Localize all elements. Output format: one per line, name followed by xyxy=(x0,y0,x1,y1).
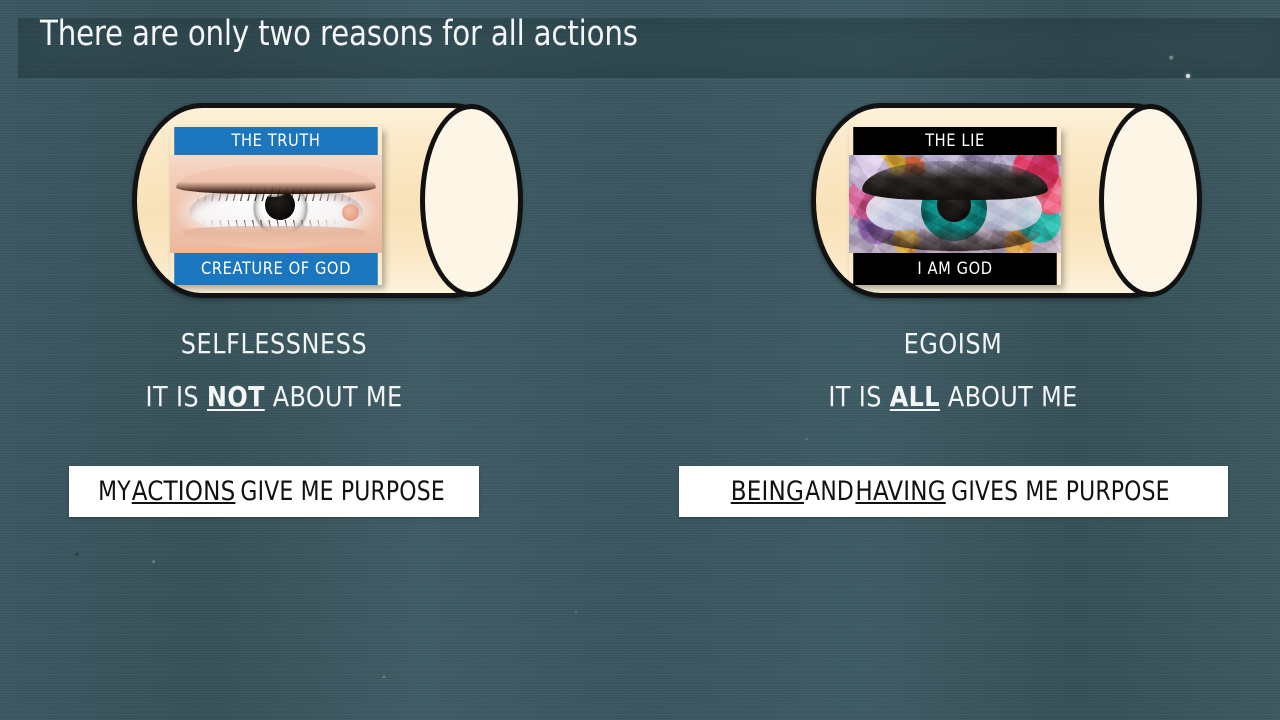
purpose-box-being-having: BEING AND HAVING GIVES ME PURPOSE xyxy=(679,466,1228,517)
caption-block-truth: SELFLESSNESS IT IS NOT ABOUT ME xyxy=(34,326,514,415)
slide-canvas: There are only two reasons for all actio… xyxy=(0,0,1280,720)
caption-title-selflessness: SELFLESSNESS xyxy=(46,326,502,362)
poster-truth: THE TRUTH CREATURE OF GOD xyxy=(170,127,382,285)
poster-header-label: THE TRUTH xyxy=(174,127,378,155)
purpose-mid: GIVE ME PURPOSE xyxy=(241,476,445,507)
background-speck xyxy=(1186,74,1190,78)
cylinder-end-cap xyxy=(1099,104,1202,297)
purpose-text-truth: MY ACTIONS GIVE ME PURPOSE xyxy=(97,476,450,507)
purpose-underline-2: HAVING xyxy=(856,476,946,507)
cylinder-end-cap xyxy=(420,104,523,297)
eye-image-realistic xyxy=(170,155,382,253)
caption-sub-pre: IT IS xyxy=(828,380,889,413)
caption-title-egoism: EGOISM xyxy=(725,326,1181,362)
purpose-box-actions: MY ACTIONS GIVE ME PURPOSE xyxy=(69,466,479,517)
poster-footer-label: I AM GOD xyxy=(853,253,1057,285)
caption-block-lie: EGOISM IT IS ALL ABOUT ME xyxy=(713,326,1193,415)
caption-sub-lie: IT IS ALL ABOUT ME xyxy=(725,379,1181,415)
eye-image-mosaic xyxy=(849,155,1061,253)
caption-sub-emph: NOT xyxy=(207,380,265,413)
page-title: There are only two reasons for all actio… xyxy=(40,14,638,54)
purpose-mid: AND xyxy=(806,476,855,507)
poster-header-label: THE LIE xyxy=(853,127,1057,155)
eye-lower-lid xyxy=(183,226,365,248)
purpose-post: GIVES ME PURPOSE xyxy=(952,476,1171,507)
caption-sub-post: ABOUT ME xyxy=(265,380,403,413)
mosaic-facet-overlay xyxy=(849,155,1061,253)
caption-sub-post: ABOUT ME xyxy=(940,380,1078,413)
purpose-text-lie: BEING AND HAVING GIVES ME PURPOSE xyxy=(731,476,1176,507)
cylinder-truth: THE TRUTH CREATURE OF GOD xyxy=(132,103,522,298)
caption-sub-emph: ALL xyxy=(890,380,940,413)
eye-upper-lashes xyxy=(174,176,375,201)
purpose-pre: MY xyxy=(98,476,131,507)
purpose-underline-1: ACTIONS xyxy=(132,476,236,507)
cylinder-lie: THE LIE I AM GOD xyxy=(811,103,1201,298)
caption-sub-truth: IT IS NOT ABOUT ME xyxy=(46,379,502,415)
caption-sub-pre: IT IS xyxy=(146,380,207,413)
eye-caruncle xyxy=(342,204,359,221)
poster-footer-label: CREATURE OF GOD xyxy=(174,253,378,285)
purpose-underline-1: BEING xyxy=(731,476,804,507)
poster-lie: THE LIE I AM GOD xyxy=(849,127,1061,285)
